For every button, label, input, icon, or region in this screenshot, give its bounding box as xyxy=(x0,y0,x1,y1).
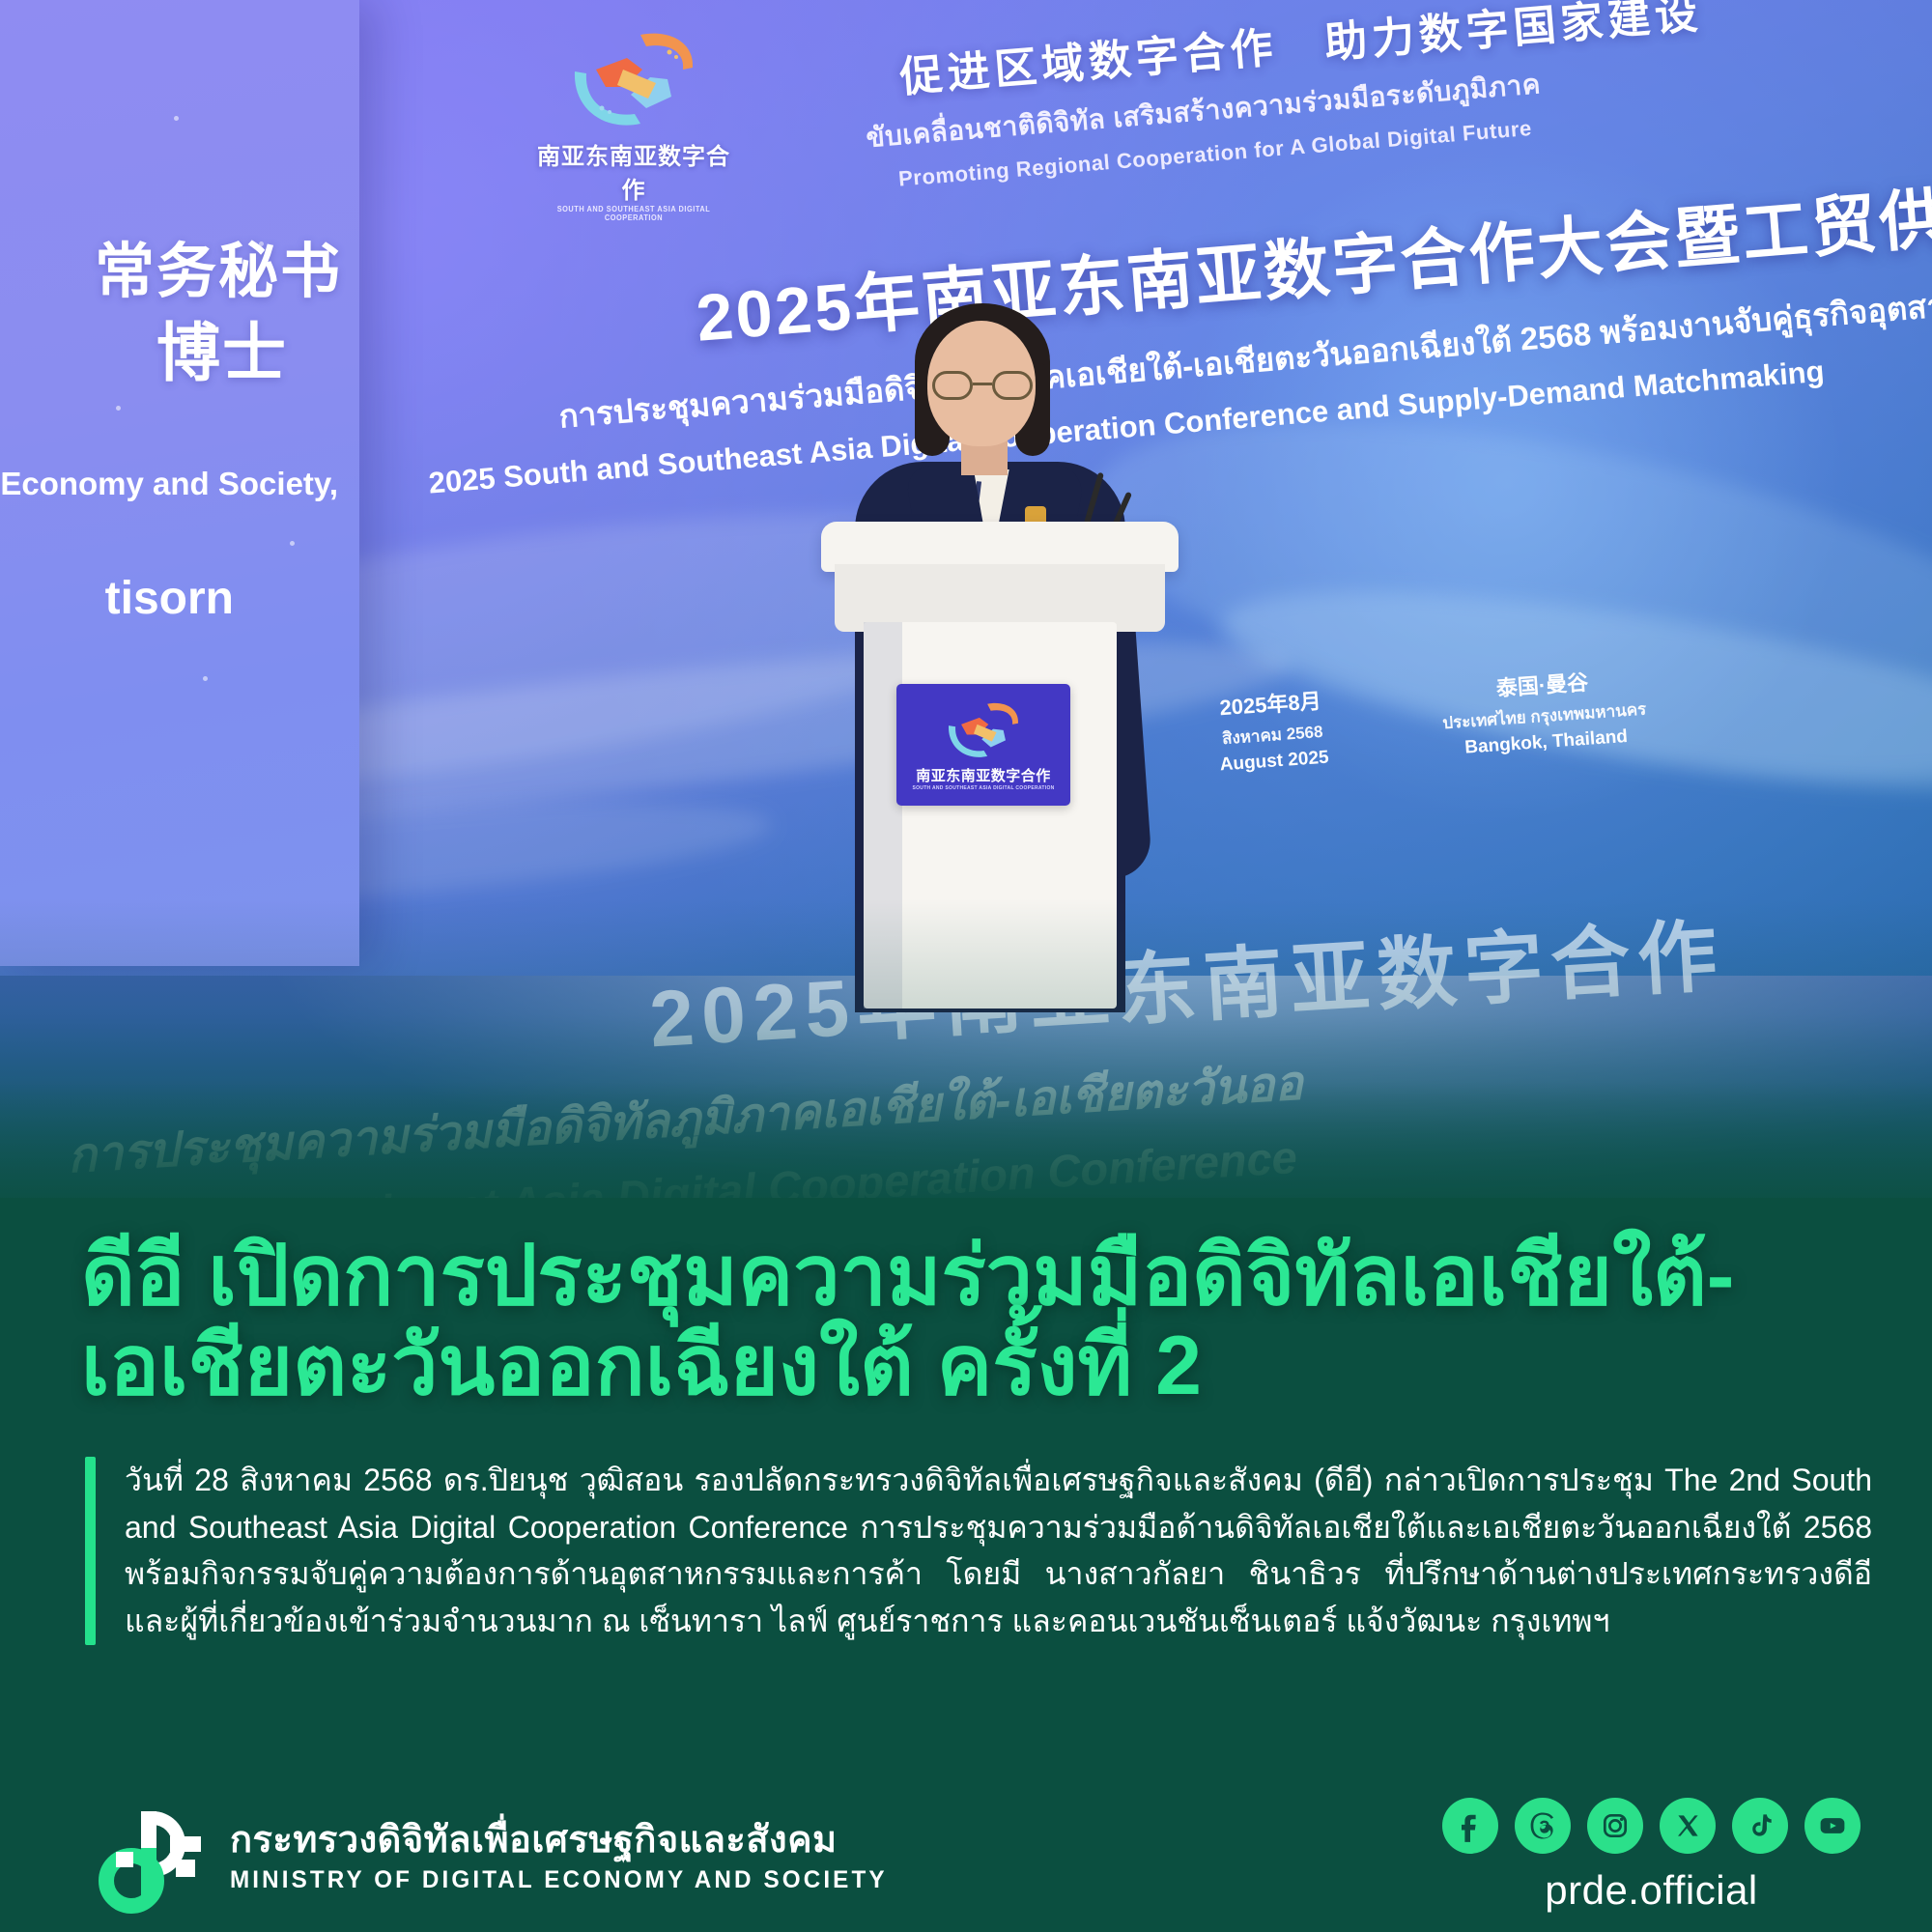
social-media-news-card: 常务秘书 博士 gital Economy and Society, tisor… xyxy=(0,0,1932,1932)
x-twitter-icon[interactable] xyxy=(1660,1798,1716,1854)
ministry-name-english: MINISTRY OF DIGITAL ECONOMY AND SOCIETY xyxy=(230,1866,888,1894)
ministry-name-thai: กระทรวงดิจิทัลเพื่อเศรษฐกิจและสังคม xyxy=(230,1821,908,1861)
event-date-chinese: 2025年8月 xyxy=(1214,684,1325,723)
body-paragraph: วันที่ 28 สิงหาคม 2568 ดร.ปิยนุช วุฒิสอน… xyxy=(125,1457,1872,1645)
headline: ดีอี เปิดการประชุมความร่วมมือดิจิทัลเอเช… xyxy=(81,1232,1878,1411)
threads-icon[interactable] xyxy=(1515,1798,1571,1854)
body-block: วันที่ 28 สิงหาคม 2568 ดร.ปิยนุช วุฒิสอน… xyxy=(85,1457,1872,1645)
side-screen-chinese-title: 博士 xyxy=(156,301,288,394)
social-icons xyxy=(1442,1798,1861,1854)
event-date: 2025年8月 สิงหาคม 2568 August 2025 xyxy=(1214,684,1329,777)
podium-sign-chinese: 南亚东南亚数字合作 xyxy=(916,765,1051,785)
glasses-icon xyxy=(932,371,1033,400)
side-screen-english-name: tisorn xyxy=(105,572,234,625)
des-monogram-icon xyxy=(81,1798,205,1918)
footer: กระทรวงดิจิทัลเพื่อเศรษฐกิจและสังคม MINI… xyxy=(0,1782,1932,1932)
youtube-icon[interactable] xyxy=(1804,1798,1861,1854)
side-screen-english-org: gital Economy and Society, xyxy=(0,466,338,502)
event-place: 泰国·曼谷 ประเทศไทย กรุงเทพมหานคร Bangkok, T… xyxy=(1439,662,1649,761)
event-date-thai: สิงหาคม 2568 xyxy=(1217,719,1328,753)
headline-line-1: ดีอี เปิดการประชุมความร่วมมือดิจิทัลเอเช… xyxy=(81,1232,1878,1321)
headline-line-2: เอเชียตะวันออกเฉียงใต้ ครั้งที่ 2 xyxy=(81,1321,1878,1411)
side-screen-panel: 常务秘书 博士 gital Economy and Society, tisor… xyxy=(0,0,359,966)
podium-sign: 南亚东南亚数字合作 SOUTH AND SOUTHEAST ASIA DIGIT… xyxy=(896,684,1070,806)
facebook-icon[interactable] xyxy=(1442,1798,1498,1854)
account-handle[interactable]: prde.official xyxy=(1442,1867,1861,1914)
ministry-name: กระทรวงดิจิทัลเพื่อเศรษฐกิจและสังคม MINI… xyxy=(230,1821,908,1895)
tiktok-icon[interactable] xyxy=(1732,1798,1788,1854)
ministry-logo-block: กระทรวงดิจิทัลเพื่อเศรษฐกิจและสังคม MINI… xyxy=(81,1798,908,1918)
social-block: prde.official xyxy=(1442,1798,1861,1914)
handshake-icon xyxy=(937,699,1030,763)
instagram-icon[interactable] xyxy=(1587,1798,1643,1854)
side-screen-chinese-role: 常务秘书 xyxy=(95,222,342,309)
accent-bar xyxy=(85,1457,96,1645)
podium-sign-english: SOUTH AND SOUTHEAST ASIA DIGITAL COOPERA… xyxy=(912,785,1054,791)
